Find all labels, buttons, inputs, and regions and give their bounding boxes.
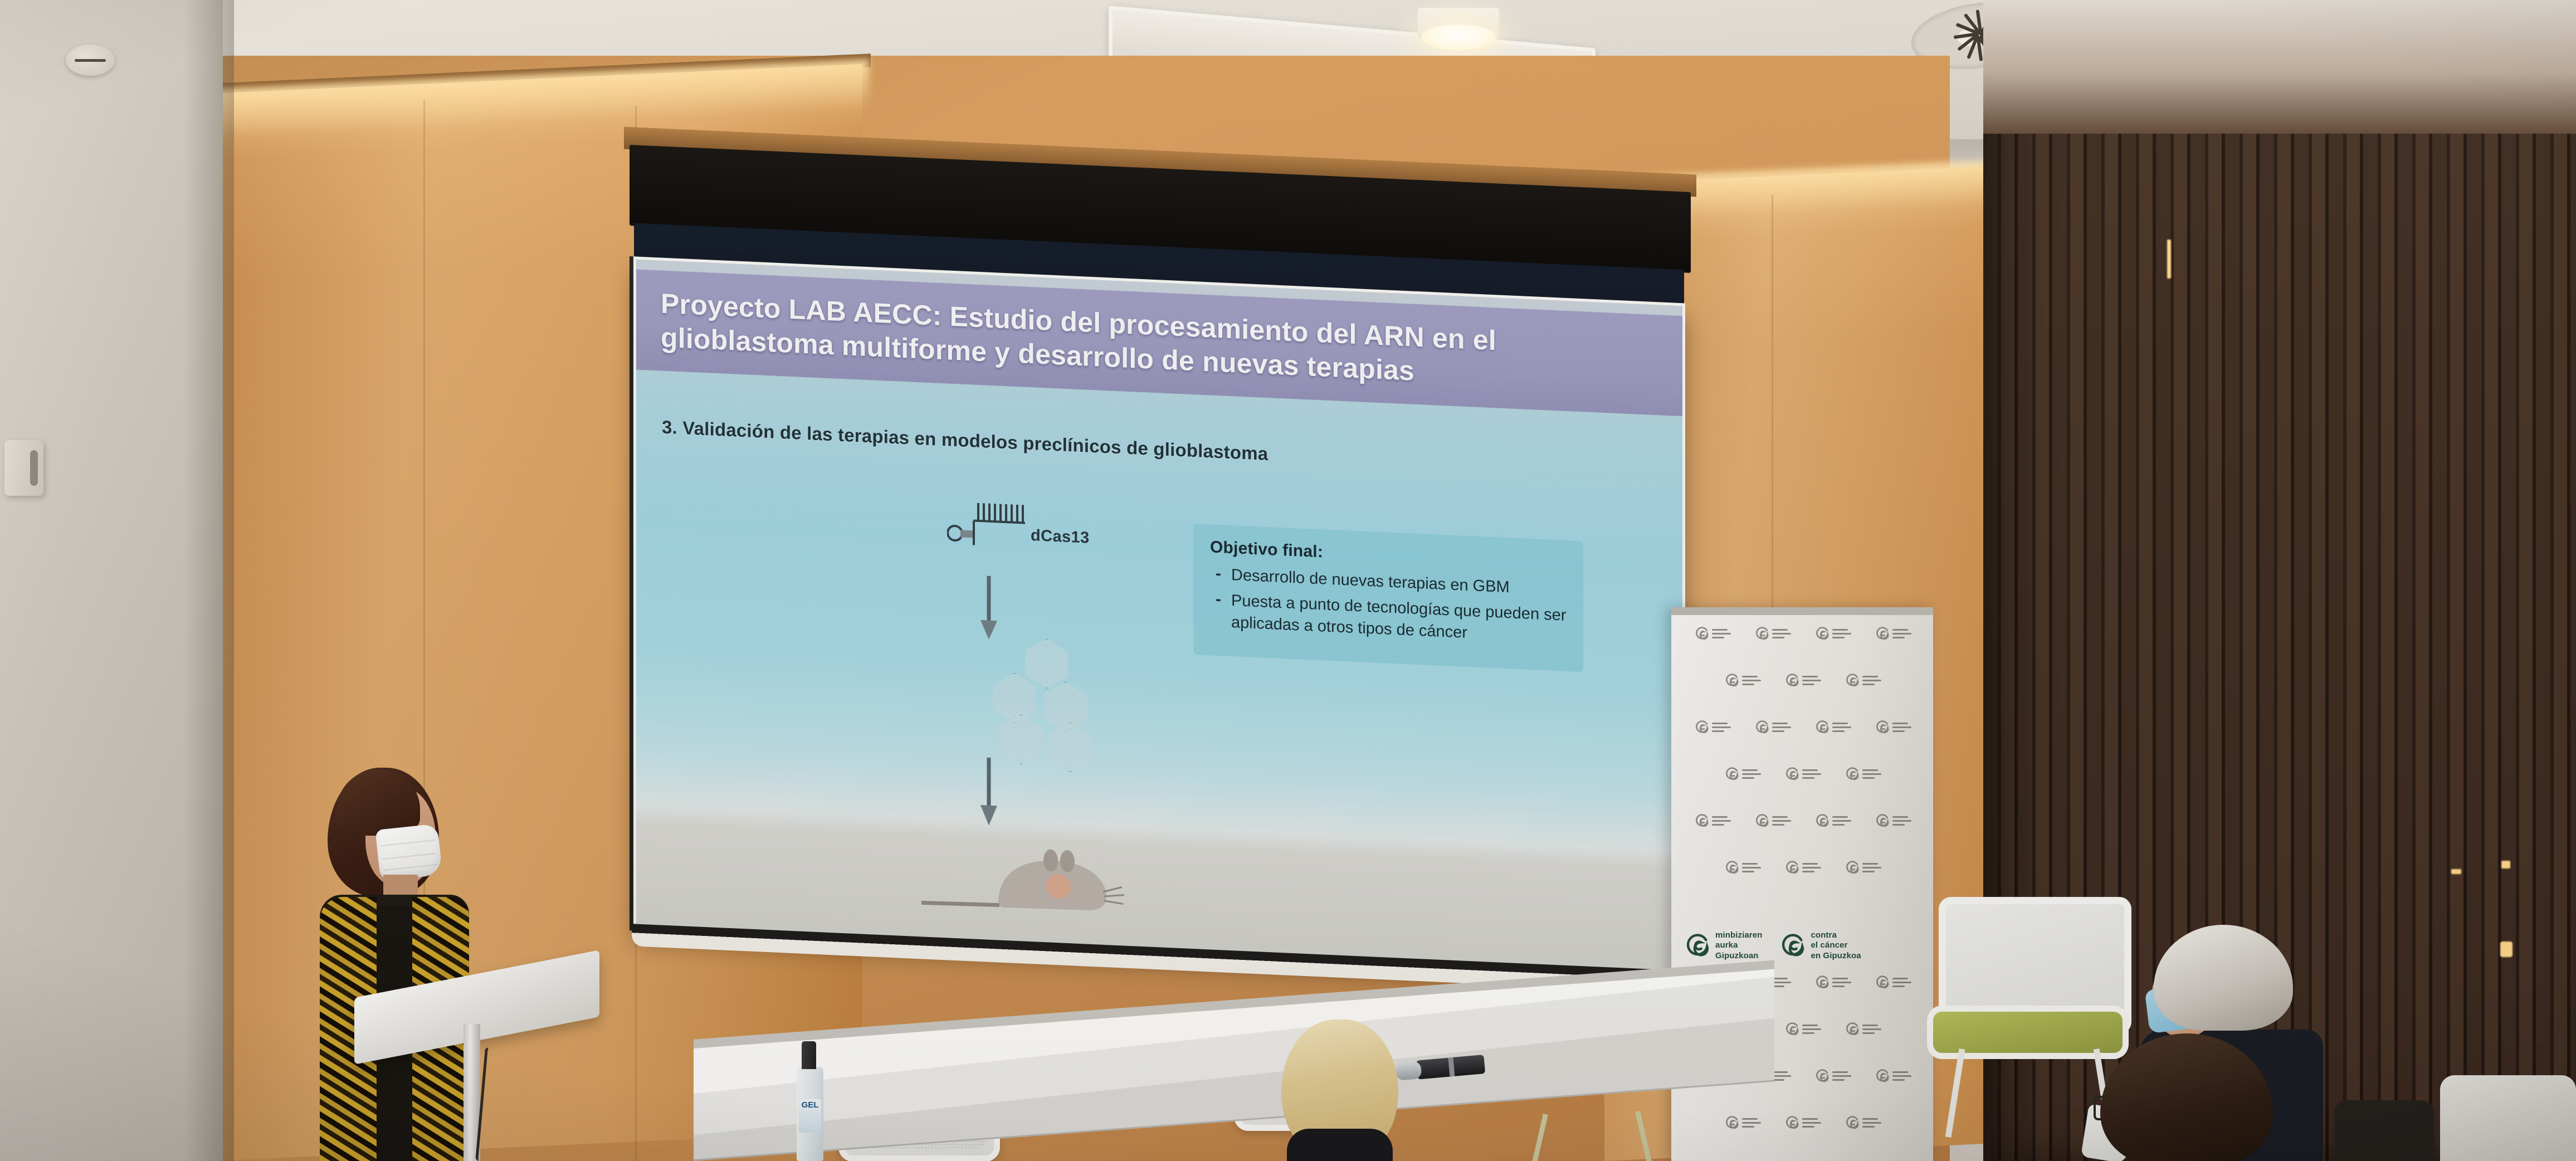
banner-watermark-logo-icon	[1755, 813, 1791, 828]
aecc-spiral-logo-icon	[1845, 1115, 1860, 1130]
face-mask-icon	[375, 823, 442, 881]
aecc-spiral-logo-icon	[1725, 673, 1739, 687]
aecc-spiral-logo-icon	[1815, 1069, 1829, 1083]
objective-box: Objetivo final: Desarrollo de nuevas ter…	[1193, 524, 1583, 672]
slide-diagram: dCas13	[937, 496, 1204, 931]
sanitizer-label: GEL	[799, 1099, 821, 1133]
screen-surface: Proyecto LAB AECC: Estudio del procesami…	[636, 260, 1682, 975]
capsid-icon	[1022, 637, 1072, 690]
aecc-spiral-logo-icon	[1755, 720, 1769, 734]
aecc-spiral-logo-icon	[1815, 975, 1829, 989]
aecc-spiral-logo-icon	[1755, 813, 1769, 828]
dcas13-label: dCas13	[1031, 526, 1090, 548]
capsid-icon	[989, 672, 1040, 724]
aecc-spiral-logo-icon	[1695, 720, 1709, 734]
arrow-down-icon	[979, 757, 998, 827]
audience-woman-hair	[2100, 1033, 2273, 1161]
logo-text: contra el cáncer en Gipuzkoa	[1811, 930, 1861, 961]
sanitizer-pump-cap	[802, 1041, 816, 1069]
mouse-icon	[915, 829, 1171, 935]
aecc-spiral-logo-icon	[1875, 813, 1890, 828]
banner-watermark-logo-icon	[1875, 1069, 1911, 1083]
banner-watermark-logo-icon	[1845, 860, 1881, 875]
banner-watermark-logo-icon	[1845, 767, 1881, 781]
aecc-spiral-logo-icon	[1785, 860, 1799, 875]
banner-watermark-logo-icon	[1695, 813, 1731, 828]
banner-watermark-logo-icon	[1785, 1115, 1821, 1130]
banner-watermark-logo-icon	[1755, 626, 1791, 641]
aecc-spiral-logo-icon	[1725, 860, 1739, 875]
banner-watermark-logo-icon	[1785, 1022, 1821, 1036]
hand-sanitizer-bottle: GEL	[797, 1067, 823, 1161]
banner-watermark-logo-icon	[1845, 1022, 1881, 1036]
aecc-spiral-logo-icon	[1875, 975, 1890, 989]
aecc-spiral-logo-icon	[1695, 626, 1709, 641]
aecc-spiral-logo-icon	[1695, 813, 1709, 828]
audience-foreground-dark	[2334, 1100, 2434, 1161]
banner-watermark-logo-icon	[1875, 626, 1911, 641]
aecc-spiral-logo-icon	[1685, 933, 1710, 958]
logo-line: Gipuzkoan	[1715, 951, 1762, 961]
banner-watermark-logo-icon	[1755, 720, 1791, 734]
banner-watermark-logo-icon	[1725, 860, 1761, 875]
banner-watermark-logo-icon	[1725, 767, 1761, 781]
banner-logo-row: minbiziaren aurka Gipuzkoan contra el cá…	[1685, 930, 1924, 961]
banner-watermark-logo-icon	[1815, 626, 1851, 641]
logo-line: contra	[1811, 930, 1861, 940]
wall-speaker-icon	[4, 440, 43, 496]
banner-watermark-logo-icon	[1875, 813, 1911, 828]
smoke-detector-icon	[66, 45, 115, 76]
banner-watermark-logo-icon	[1785, 767, 1821, 781]
banner-watermark-logo-icon	[1815, 720, 1851, 734]
capsid-icon	[1045, 721, 1095, 773]
slide-subtitle: 3. Validación de las terapias en modelos…	[662, 417, 1497, 475]
banner-watermark-logo-icon	[1845, 1115, 1881, 1130]
banner-watermark-logo-icon	[1875, 975, 1911, 989]
aecc-spiral-logo-icon	[1845, 860, 1860, 875]
left-wall-shadow	[184, 0, 234, 1161]
logo-text: minbiziaren aurka Gipuzkoan	[1715, 930, 1762, 961]
aecc-spiral-logo-icon	[1725, 767, 1739, 781]
banner-watermark-logo-icon	[1815, 1069, 1851, 1083]
banner-watermark-logo-icon	[1875, 720, 1911, 734]
banner-top-rail	[1671, 607, 1933, 615]
banner-watermark-logo-icon	[1695, 720, 1731, 734]
banner-watermark-logo-icon	[1725, 673, 1761, 687]
aecc-spiral-logo-icon	[1755, 626, 1769, 641]
aecc-spiral-logo-icon	[1875, 1069, 1890, 1083]
cylinder-downlight-icon	[1418, 8, 1499, 45]
aecc-spiral-logo-icon	[1785, 673, 1799, 687]
projection-screen: Proyecto LAB AECC: Estudio del procesami…	[630, 145, 1691, 1039]
banner-watermark-logo-icon	[1725, 1115, 1761, 1130]
capsid-icon	[996, 713, 1046, 765]
logo-line: en Gipuzkoa	[1811, 951, 1861, 961]
seated-person-blonde	[1281, 1019, 1398, 1161]
logo-line: minbiziaren	[1715, 930, 1762, 940]
aecc-spiral-logo-icon	[1845, 767, 1860, 781]
arrow-down-icon	[979, 575, 998, 641]
aecc-spiral-logo-icon	[1845, 1022, 1860, 1036]
banner-watermark-logo-icon	[1695, 626, 1731, 641]
logo-line: aurka	[1715, 940, 1762, 950]
mouse-illustration	[915, 829, 1171, 935]
banner-watermark-logo-icon	[1785, 673, 1821, 687]
slat-wall-top-shadow	[1983, 0, 2576, 134]
aecc-spiral-logo-icon	[1785, 1115, 1799, 1130]
conference-room-photo: Proyecto LAB AECC: Estudio del procesami…	[0, 0, 2576, 1161]
banner-watermark-logo-icon	[1815, 975, 1851, 989]
audience-man-hair	[2154, 925, 2293, 1031]
aecc-spiral-logo-icon	[1815, 813, 1829, 828]
audience-woman-dark-hair	[2084, 1033, 2290, 1161]
banner-watermark-logo-icon	[1815, 813, 1851, 828]
chair-far-right	[2440, 1075, 2576, 1161]
slide-title: Proyecto LAB AECC: Estudio del procesami…	[661, 286, 1569, 395]
dcas13-complex: dCas13	[947, 496, 1131, 571]
aecc-spiral-logo-icon	[1875, 626, 1890, 641]
banner-watermark-logo-icon	[1785, 860, 1821, 875]
banner-watermark-logo-icon	[1845, 673, 1881, 687]
aecc-spiral-logo-icon	[1785, 1022, 1799, 1036]
aecc-spiral-logo-icon	[1725, 1115, 1739, 1130]
aecc-spiral-logo-icon	[1815, 626, 1829, 641]
aecc-spiral-logo-icon	[1780, 933, 1806, 958]
banner-watermark-pattern	[1671, 618, 1933, 930]
presentation-slide: Proyecto LAB AECC: Estudio del procesami…	[636, 260, 1682, 975]
aecc-spiral-logo-icon	[1785, 767, 1799, 781]
viral-capsid-group	[964, 635, 1131, 759]
logo-contra-el-cancer-en-gipuzkoa: contra el cáncer en Gipuzkoa	[1780, 930, 1861, 961]
aecc-spiral-logo-icon	[1845, 673, 1860, 687]
logo-line: el cáncer	[1811, 940, 1861, 950]
aecc-spiral-logo-icon	[1815, 720, 1829, 734]
objective-bullet-list: Desarrollo de nuevas terapias en GBM Pue…	[1210, 563, 1567, 648]
aecc-spiral-logo-icon	[1875, 720, 1890, 734]
blonde-shoulders	[1287, 1129, 1393, 1161]
logo-minbiziaren-aurka-gipuzkoan: minbiziaren aurka Gipuzkoan	[1685, 930, 1762, 961]
